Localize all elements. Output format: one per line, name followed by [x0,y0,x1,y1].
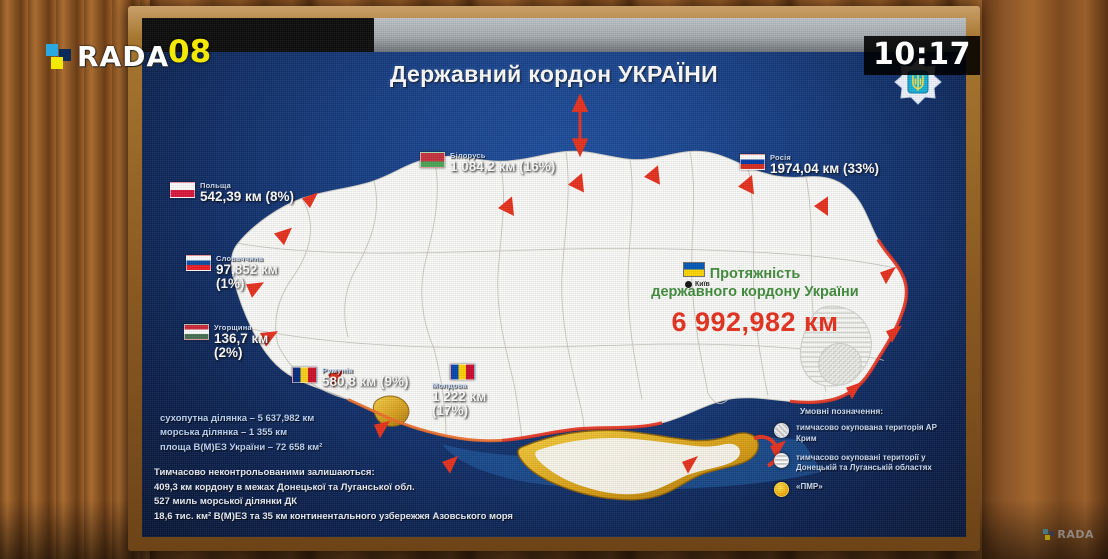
callout-russia-value: 1974,04 км (33%) [770,162,879,176]
total-caption-line2: державного кордону України [610,284,900,302]
page-title: Державний кордон УКРАЇНИ [142,61,966,88]
broadcast-clock: 10:17 [864,36,980,75]
rada-logo-mark-icon [46,44,72,70]
border-stats-block: сухопутна ділянка – 5 637,982 км морська… [160,412,322,455]
legend-swatch-donbas-icon [774,453,789,468]
wood-wall-right [982,0,1108,559]
callout-hungary: Угорщина 136,7 км (2%) [184,324,290,360]
legend-item-donbas: тимчасово окуповані території у Донецькі… [774,453,950,475]
notes-line-donbas: 409,3 км кордону в межах Донецької та Лу… [154,481,513,496]
corner-watermark: RADA [1043,528,1094,541]
callout-slovakia-value: 97,852 км (1%) [216,263,292,291]
belarus-arrow [574,97,586,154]
callout-poland: Польща 542,39 км (8%) [170,182,294,204]
total-caption-line1: Протяжність [610,266,900,284]
presentation-screen: Державний кордон УКРАЇНИ [142,18,966,537]
channel-logo: RADA [46,40,169,73]
watermark-logo-mark-icon [1043,529,1054,540]
flag-romania-icon [292,367,317,383]
notes-line-sea-miles: 527 миль морської ділянки ДК [154,495,513,510]
callout-slovakia: Словаччина 97,852 км (1%) [186,255,292,291]
legend-label-donbas: тимчасово окуповані території у Донецькі… [796,453,950,475]
map-legend: Умовні позначення: тимчасово окупована т… [774,406,950,505]
legend-item-pmr: «ПМР» [774,482,950,497]
stats-line-land: сухопутна ділянка – 5 637,982 км [160,412,322,426]
watermark-text: RADA [1057,528,1094,541]
notes-line-eez: 18,6 тис. км² В(М)ЕЗ та 35 км континента… [154,510,513,525]
flag-russia-icon [740,154,765,170]
legend-swatch-pmr-icon [774,482,789,497]
callout-romania: Румунія 580,8 км (9%) [292,367,409,389]
flag-hungary-icon [184,324,209,340]
legend-label-crimea: тимчасово окупована територія АР Крим [796,423,950,445]
callout-romania-value: 580,8 км (9%) [322,375,409,389]
callout-belarus: Білорусь 1 084,2 км (16%) [420,152,555,174]
transnistria-area [373,396,409,426]
flag-moldova-icon [450,364,475,380]
legend-swatch-crimea-icon [774,423,789,438]
callout-poland-value: 542,39 км (8%) [200,190,294,204]
uncontrolled-notes-block: Тимчасово неконтрольованими залишаються:… [154,466,513,525]
callout-belarus-value: 1 084,2 км (16%) [450,160,555,174]
flag-poland-icon [170,182,195,198]
callout-russia: Росія 1974,04 км (33%) [740,154,879,176]
stats-line-eez: площа В(М)ЕЗ України – 72 658 км² [160,441,322,455]
border-infographic-slide: Державний кордон УКРАЇНИ [142,52,966,537]
presentation-screen-frame: Державний кордон УКРАЇНИ [128,6,980,551]
occupied-luhansk-area [819,344,861,385]
callout-hungary-value: 136,7 км (2%) [214,332,290,360]
flag-slovakia-icon [186,255,211,271]
flag-belarus-icon [420,152,445,168]
callout-moldova: Молдова 1 222 км (17%) [432,364,508,418]
legend-title: Умовні позначення: [800,406,950,416]
legend-item-crimea: тимчасово окупована територія АР Крим [774,423,950,445]
screen-top-strip [142,18,966,52]
total-border-length-value: 6 992,982 км [610,307,900,338]
legend-label-pmr: «ПМР» [796,482,823,493]
total-border-length-block: Протяжність державного кордону України 6… [610,266,900,338]
stats-line-sea: морська ділянка – 1 355 км [160,426,322,440]
notes-heading: Тимчасово неконтрольованими залишаються: [154,466,513,481]
channel-logo-text: RADA [77,40,169,73]
channel-number: 08 [168,34,211,70]
callout-moldova-value: 1 222 км (17%) [432,390,508,418]
